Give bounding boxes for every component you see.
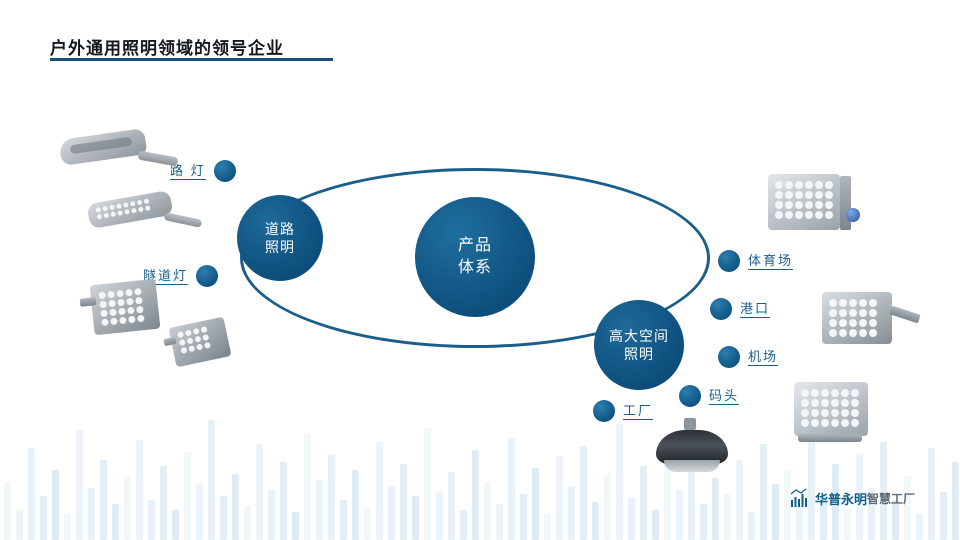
decorative-bar [496,504,503,540]
leaf-dot-icon [718,346,740,368]
product-image-airport-flood [788,378,906,454]
decorative-bar [940,492,947,540]
product-image-street-lamp-1 [52,128,172,184]
leaf-label-factory: 工厂 [623,403,653,420]
hub-high-label-line1: 高大空间 [609,327,669,345]
leaf-label-wharf: 码头 [709,388,739,405]
hub-road-label-line1: 道路 [265,220,295,238]
decorative-bar [904,476,911,540]
decorative-bar [4,482,11,540]
decorative-bar [652,510,659,540]
leaf-label-port: 港口 [740,301,770,318]
decorative-bar [400,464,407,540]
leaf-dot-icon [718,250,740,272]
decorative-bar [340,500,347,540]
decorative-bar [676,490,683,540]
decorative-bar [916,514,923,540]
decorative-bar [316,480,323,540]
decorative-bar [292,512,299,540]
decorative-bar [376,442,383,540]
core-node-product-system[interactable]: 产品 体系 [415,197,535,317]
decorative-bar [640,466,647,540]
decorative-bar [304,434,311,540]
page-title: 户外通用照明领域的领号企业 [50,34,284,59]
leaf-dot-icon [196,265,218,287]
leaf-dot-icon [710,298,732,320]
decorative-bar [508,438,515,540]
decorative-bar [604,474,611,540]
leaf-node-stadium[interactable]: 体育场 [718,250,793,272]
decorative-bar [556,456,563,540]
leaf-label-airport: 机场 [748,349,778,366]
decorative-bar [844,508,851,540]
decorative-bar [76,430,83,540]
leaf-label-stadium: 体育场 [748,253,793,270]
decorative-bar [244,506,251,540]
logo-suffix-text: 智慧工厂 [867,490,915,507]
decorative-bar [772,484,779,540]
title-underline [50,58,333,61]
decorative-bar [28,448,35,540]
leaf-dot-icon [679,385,701,407]
decorative-bar [268,490,275,540]
product-image-stadium-flood [762,168,872,248]
decorative-bar [544,514,551,540]
leaf-node-street-lamp[interactable]: 路 灯 [170,160,236,182]
decorative-bar [172,510,179,540]
decorative-bar [280,462,287,540]
decorative-bar [724,494,731,540]
decorative-bar [52,470,59,540]
product-image-street-lamp-2 [86,193,204,249]
decorative-bar [100,460,107,540]
decorative-bar [796,506,803,540]
core-label-line2: 体系 [458,257,492,279]
leaf-node-factory[interactable]: 工厂 [593,400,653,422]
decorative-bar [388,486,395,540]
decorative-bar [124,476,131,540]
decorative-bar [592,502,599,540]
decorative-bar [520,494,527,540]
leaf-node-port[interactable]: 港口 [710,298,770,320]
logo-mark-icon [790,488,810,508]
decorative-bar [220,496,227,540]
leaf-dot-icon [214,160,236,182]
decorative-bar [712,478,719,540]
decorative-bar [628,498,635,540]
decorative-bar [616,424,623,540]
decorative-bar [952,462,959,540]
decorative-bar [424,428,431,540]
leaf-node-airport[interactable]: 机场 [718,346,778,368]
slide-canvas: 户外通用照明领域的领号企业 产品 体系 道路 照明 高大空间 照明 路 灯 隧道… [0,0,960,540]
decorative-bar [328,454,335,540]
leaf-dot-icon [593,400,615,422]
core-label-line1: 产品 [458,235,492,257]
leaf-node-wharf[interactable]: 码头 [679,385,739,407]
decorative-bar [472,450,479,540]
product-image-tunnel-flood-2 [164,318,236,370]
decorative-bar [184,452,191,540]
product-image-port-flood [818,288,928,362]
decorative-bar [136,440,143,540]
decorative-bar [40,496,47,540]
decorative-bar [748,512,755,540]
page-title-text: 户外通用照明领域的领号企业 [50,34,284,59]
decorative-bar [148,500,155,540]
decorative-bar [448,472,455,540]
decorative-bar [256,444,263,540]
hub-node-road-lighting[interactable]: 道路 照明 [237,195,323,281]
decorative-bar [412,496,419,540]
hub-road-label-line2: 照明 [265,238,295,256]
decorative-bar [580,446,587,540]
decorative-bar [700,504,707,540]
decorative-bar [532,468,539,540]
decorative-bar [364,508,371,540]
product-image-highbay-lamp [650,418,734,480]
hub-node-high-space-lighting[interactable]: 高大空间 照明 [594,300,684,390]
decorative-bar [760,444,767,540]
decorative-bar [736,460,743,540]
product-image-tunnel-flood-1 [78,278,166,344]
decorative-bar [112,504,119,540]
decorative-bar [88,488,95,540]
decorative-bar [928,448,935,540]
decorative-bar [232,474,239,540]
hub-high-label-line2: 照明 [609,345,669,363]
logo-brand-text: 华普永明 [815,489,867,508]
decorative-bar [196,484,203,540]
decorative-bar [208,420,215,540]
decorative-bar [460,510,467,540]
decorative-bar [64,514,71,540]
decorative-bar [352,470,359,540]
decorative-bar [568,486,575,540]
decorative-bar [160,466,167,540]
decorative-bar [16,510,23,540]
decorative-bar [436,492,443,540]
decorative-bar [484,482,491,540]
brand-logo: 华普永明 智慧工厂 [790,488,915,508]
